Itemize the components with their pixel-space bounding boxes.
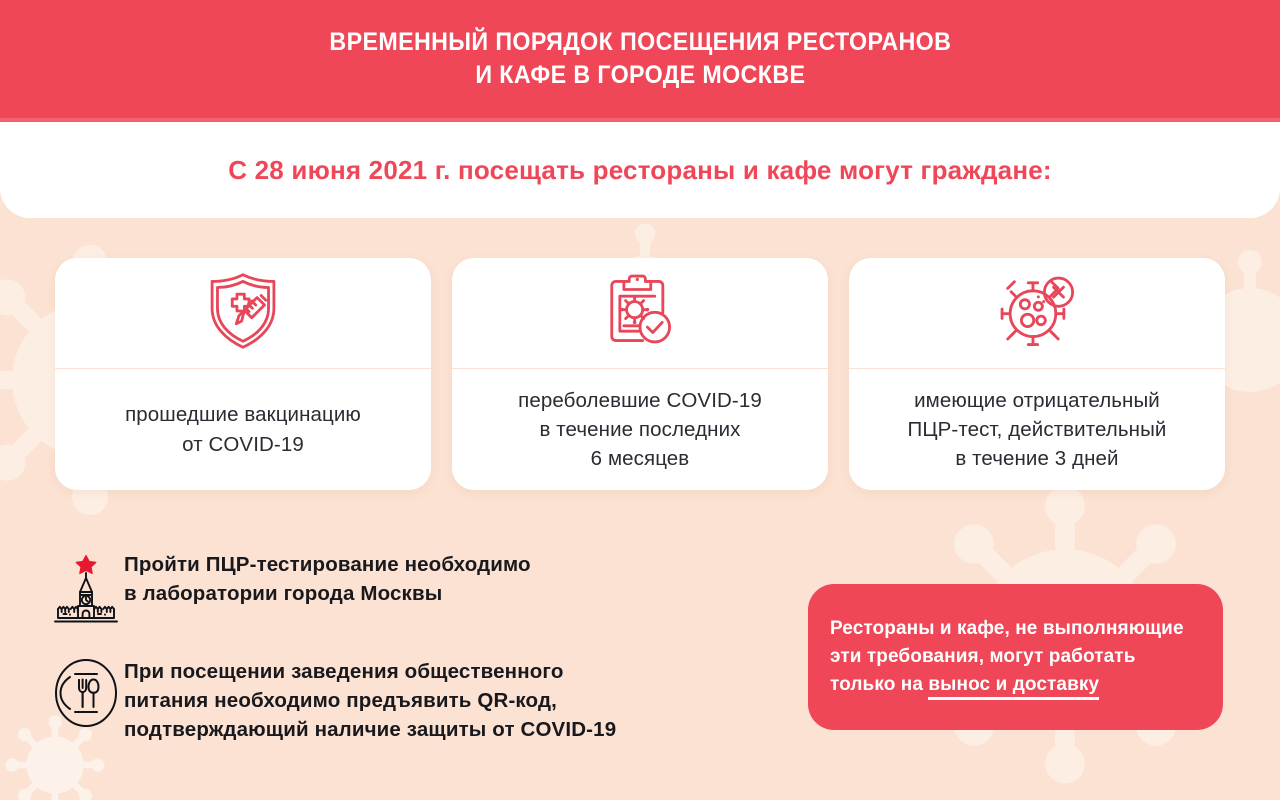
callout-text-underlined: вынос и доставку: [928, 674, 1099, 700]
note-text: Пройти ПЦР-тестирование необходимо в лаб…: [124, 548, 531, 608]
note-icon-slot: [48, 548, 124, 629]
card-icon-area: [55, 258, 431, 368]
notes-block: Пройти ПЦР-тестирование необходимо в лаб…: [48, 548, 788, 770]
page-title: ВРЕМЕННЫЙ ПОРЯДОК ПОСЕЩЕНИЯ РЕСТОРАНОВ И…: [329, 26, 951, 92]
shield-syringe-icon: [200, 268, 286, 359]
note-qr-code: При посещении заведения общественного пи…: [48, 655, 788, 744]
clipboard-virus-check-icon: [597, 268, 683, 359]
note-icon-slot: [48, 655, 124, 734]
header-bar: ВРЕМЕННЫЙ ПОРЯДОК ПОСЕЩЕНИЯ РЕСТОРАНОВ И…: [0, 0, 1280, 118]
card-text-area: имеющие отрицательный ПЦР-тест, действит…: [849, 369, 1225, 490]
condition-card-negative-pcr: имеющие отрицательный ПЦР-тест, действит…: [849, 258, 1225, 490]
subtitle-panel: С 28 июня 2021 г. посещать рестораны и к…: [0, 122, 1280, 218]
card-text: прошедшие вакцинацию от COVID-19: [125, 400, 361, 458]
callout-text: Рестораны и кафе, не выполняющие эти тре…: [830, 615, 1184, 698]
condition-card-vaccinated: прошедшие вакцинацию от COVID-19: [55, 258, 431, 490]
kremlin-tower-icon: [50, 550, 122, 629]
subtitle-text: С 28 июня 2021 г. посещать рестораны и к…: [228, 155, 1052, 186]
condition-card-recovered: переболевшие COVID-19 в течение последни…: [452, 258, 828, 490]
header-accent-strip: [0, 118, 1280, 122]
virus-negative-icon: [994, 268, 1080, 359]
card-text-area: переболевшие COVID-19 в течение последни…: [452, 369, 828, 490]
card-text: имеющие отрицательный ПЦР-тест, действит…: [908, 386, 1167, 473]
note-pcr-lab: Пройти ПЦР-тестирование необходимо в лаб…: [48, 548, 788, 629]
fork-spoon-circle-icon: [53, 657, 119, 734]
conditions-card-row: прошедшие вакцинацию от COVID-19: [55, 258, 1225, 490]
card-icon-area: [452, 258, 828, 368]
note-text: При посещении заведения общественного пи…: [124, 655, 616, 744]
card-text: переболевшие COVID-19 в течение последни…: [518, 386, 762, 473]
card-text-area: прошедшие вакцинацию от COVID-19: [55, 369, 431, 490]
callout-box-takeaway-only: Рестораны и кафе, не выполняющие эти тре…: [808, 584, 1223, 730]
card-icon-area: [849, 258, 1225, 368]
